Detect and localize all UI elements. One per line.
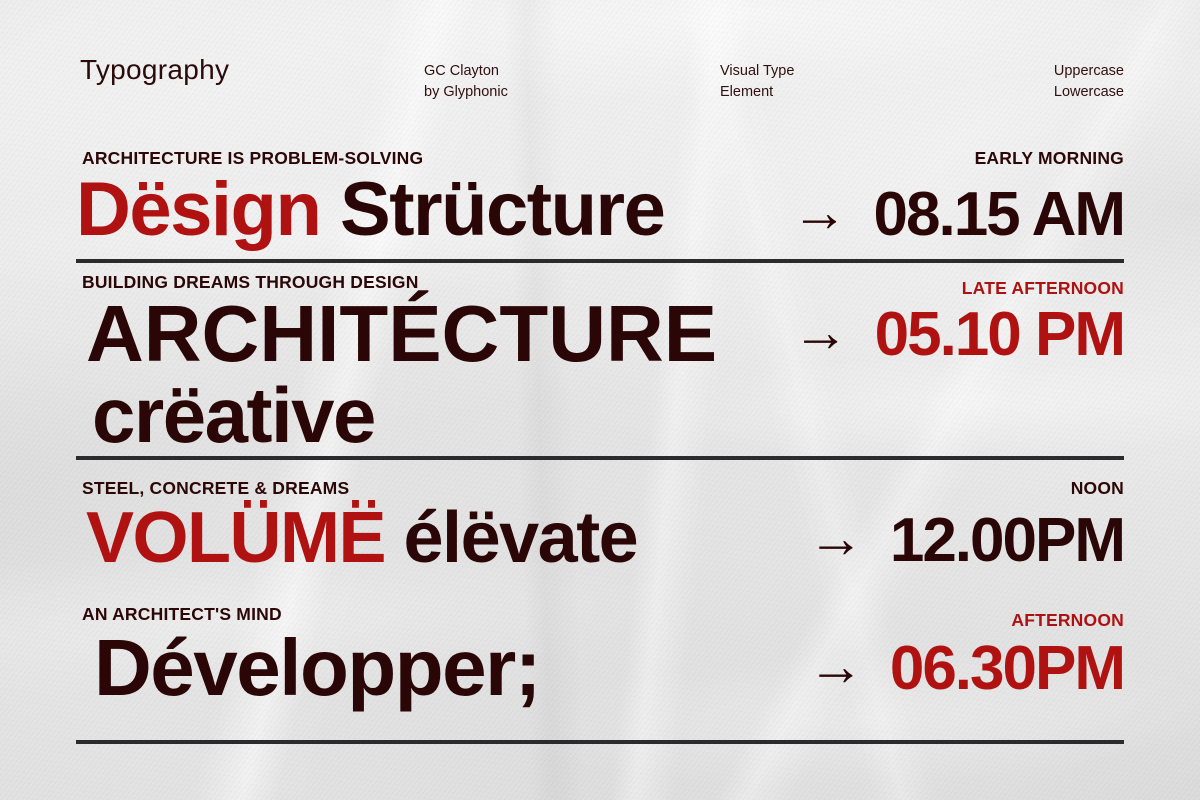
specimen-1-time: 08.15 AM [874,184,1125,246]
typography-poster: Typography GC Clayton by Glyphonic Visua… [0,0,1200,800]
specimen-1-display-dark: Strücture [340,167,664,252]
specimen-1-time-label: EARLY MORNING [975,148,1124,169]
divider-1 [76,259,1124,263]
specimen-2-time-group: → 05.10 PM [793,304,1124,366]
divider-3 [76,740,1124,744]
specimen-3-time-group: → 12.00PM [808,510,1124,572]
arrow-right-icon: → [808,510,864,566]
specimen-row-2: BUILDING DREAMS THROUGH DESIGN LATE AFTE… [76,272,1124,452]
specimen-4-eyebrow: AN ARCHITECT'S MIND [82,604,282,625]
specimen-4-display: Développer; [94,628,540,708]
specimen-1-eyebrow: ARCHITECTURE IS PROBLEM-SOLVING [82,148,423,169]
poster-title: Typography [80,54,229,86]
specimen-3-display: VOLÜMË élëvate [86,502,637,574]
specimen-1-display: Dësign Strücture [76,172,664,248]
meta-kind: Visual Type Element [720,61,794,102]
specimen-1-display-red: Dësign [76,167,340,252]
specimen-row-1: ARCHITECTURE IS PROBLEM-SOLVING EARLY MO… [76,148,1124,258]
specimen-3-display-dark: élëvate [404,498,638,578]
poster-header: Typography GC Clayton by Glyphonic Visua… [76,56,1124,106]
specimen-4-time-label: AFTERNOON [1011,610,1124,631]
specimen-3-eyebrow: STEEL, CONCRETE & DREAMS [82,478,349,499]
specimen-row-3: STEEL, CONCRETE & DREAMS NOON VOLÜMË élë… [76,478,1124,588]
meta-case: Uppercase Lowercase [936,61,1124,102]
divider-2 [76,456,1124,460]
specimen-4-time: 06.30PM [890,638,1124,700]
specimen-2-display-line-2: crëative [92,376,375,454]
specimen-4-time-group: → 06.30PM [808,638,1124,700]
meta-author: GC Clayton by Glyphonic [424,61,508,102]
specimen-row-4: AN ARCHITECT'S MIND AFTERNOON Développer… [76,604,1124,714]
specimen-1-time-group: → 08.15 AM [792,184,1125,246]
specimen-2-time: 05.10 PM [875,304,1124,366]
specimen-2-display-line-1: ARCHITÉCTURE [86,294,717,374]
arrow-right-icon: → [793,304,849,360]
specimen-3-time-label: NOON [1071,478,1124,499]
specimen-3-display-red: VOLÜMË [86,498,404,578]
specimen-3-time: 12.00PM [890,510,1124,572]
specimen-2-time-label: LATE AFTERNOON [962,278,1124,299]
arrow-right-icon: → [792,184,848,240]
arrow-right-icon: → [808,638,864,694]
